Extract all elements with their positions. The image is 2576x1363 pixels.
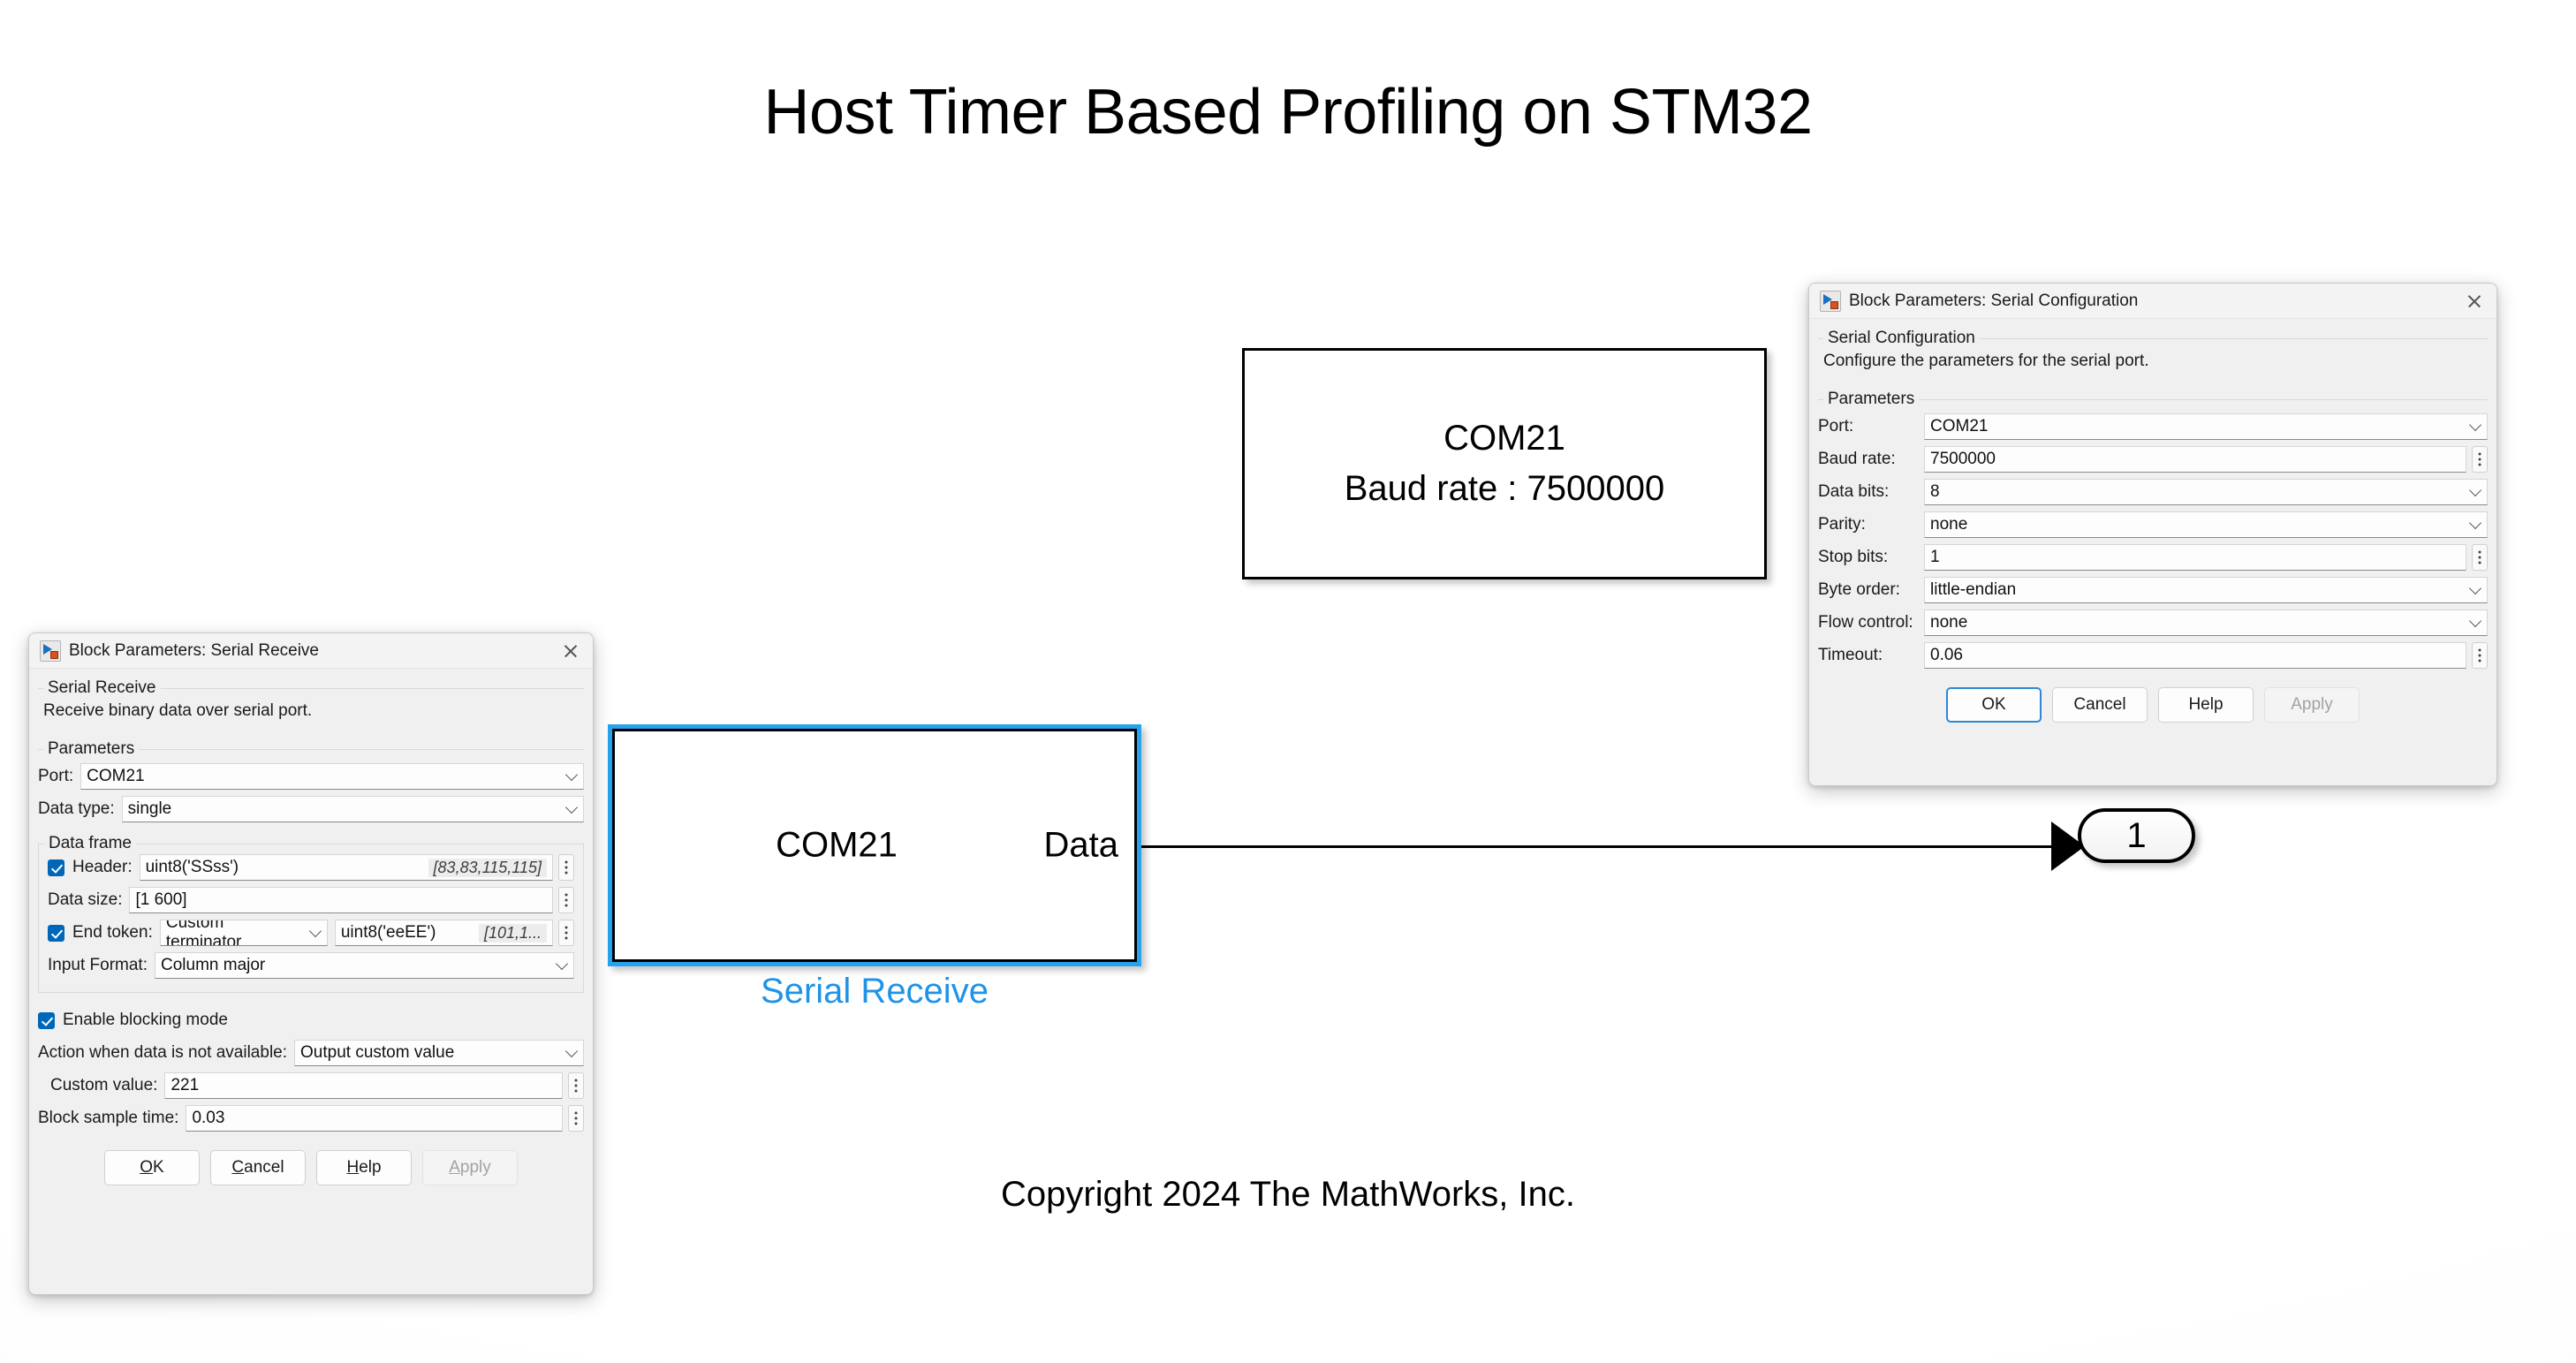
chevron-down-icon xyxy=(2469,419,2481,431)
timeout-value: 0.06 xyxy=(1930,646,1963,665)
data-type-select[interactable]: single xyxy=(122,796,584,822)
action-not-available-value: Output custom value xyxy=(300,1043,454,1063)
custom-value-label: Custom value: xyxy=(50,1076,164,1095)
port-value: COM21 xyxy=(1930,417,1988,436)
custom-value-input[interactable]: 221 xyxy=(164,1072,563,1099)
block-sample-time-input[interactable]: 0.03 xyxy=(186,1105,563,1132)
parity-row: Parity:none xyxy=(1818,510,2488,540)
baud-rate-value: 7500000 xyxy=(1930,450,1996,469)
flow-control-label: Flow control: xyxy=(1818,613,1924,632)
block-description-group: Serial Receive Receive binary data over … xyxy=(38,688,584,730)
header-label: Header: xyxy=(72,858,140,877)
help-button[interactable]: Help xyxy=(316,1150,412,1185)
data-size-label: Data size: xyxy=(48,890,129,910)
timeout-input[interactable]: 0.06 xyxy=(1924,642,2466,669)
help-button-mnemonic: H xyxy=(346,1158,359,1177)
dialog-title: Block Parameters: Serial Configuration xyxy=(1849,292,2458,311)
header-checkbox[interactable] xyxy=(48,859,64,876)
block-description-text: Configure the parameters for the serial … xyxy=(1818,345,2488,380)
serial-configuration-block-label: COM21 Baud rate : 7500000 xyxy=(1245,413,1764,514)
stop-bits-value: 1 xyxy=(1930,548,1940,567)
byte-order-value: little-endian xyxy=(1930,580,2016,600)
parameters-group-title: Parameters xyxy=(1823,390,1919,409)
block-sample-time-value: 0.03 xyxy=(192,1109,224,1128)
input-format-select[interactable]: Column major xyxy=(155,952,574,979)
end-token-more-options-button[interactable] xyxy=(558,920,574,946)
action-not-available-row: Action when data is not available: Outpu… xyxy=(38,1038,584,1068)
chevron-down-icon xyxy=(565,801,578,814)
chevron-down-icon xyxy=(565,1045,578,1057)
parameters-group-title: Parameters xyxy=(43,739,139,759)
data-frame-group: Data frame Header: uint8('SSss') [83,83,… xyxy=(38,844,584,993)
ok-button[interactable]: OK xyxy=(1946,687,2042,723)
simulink-block-icon xyxy=(40,640,61,662)
serial-configuration-block[interactable]: COM21 Baud rate : 7500000 xyxy=(1242,348,1767,579)
stop-bits-input[interactable]: 1 xyxy=(1924,544,2466,571)
enable-blocking-label: Enable blocking mode xyxy=(63,1011,235,1030)
data-bits-value: 8 xyxy=(1930,482,1940,502)
dialog-button-bar: OK Cancel Help Apply xyxy=(1818,673,2488,735)
parameters-group: Parameters Port:COM21Baud rate:7500000Da… xyxy=(1818,399,2488,670)
data-type-value: single xyxy=(128,799,172,819)
port-select[interactable]: COM21 xyxy=(80,763,584,790)
parameters-field-list: Port:COM21Baud rate:7500000Data bits:8Pa… xyxy=(1818,412,2488,670)
serial-receive-block-body[interactable]: COM21 Data xyxy=(612,729,1137,962)
data-size-row: Data size: [1 600] xyxy=(48,885,574,915)
data-frame-group-title: Data frame xyxy=(44,834,136,853)
stop-bits-row: Stop bits:1 xyxy=(1818,542,2488,572)
close-icon[interactable] xyxy=(554,638,587,664)
serial-receive-dialog[interactable]: Block Parameters: Serial Receive Serial … xyxy=(28,632,594,1295)
header-input[interactable]: uint8('SSss') [83,83,115,115] xyxy=(140,854,553,881)
block-sample-time-row: Block sample time: 0.03 xyxy=(38,1103,584,1133)
parameters-group: Parameters Port: COM21 Data type: single… xyxy=(38,749,584,1133)
serial-receive-output-port-label: Data xyxy=(1044,826,1119,866)
chevron-down-icon xyxy=(2469,517,2481,529)
cancel-button-mnemonic: C xyxy=(231,1158,244,1177)
cancel-button[interactable]: Cancel xyxy=(210,1150,306,1185)
data-type-row: Data type: single xyxy=(38,794,584,824)
port-label: Port: xyxy=(1818,417,1924,436)
custom-value-more-options-button[interactable] xyxy=(568,1072,584,1099)
apply-button-label: pply xyxy=(460,1158,491,1177)
flow-control-select[interactable]: none xyxy=(1924,610,2488,636)
block-sample-time-more-options-button[interactable] xyxy=(568,1105,584,1132)
dialog-title: Block Parameters: Serial Receive xyxy=(69,641,554,661)
chevron-down-icon xyxy=(565,769,578,781)
serial-configuration-dialog[interactable]: Block Parameters: Serial Configuration S… xyxy=(1808,283,2497,786)
timeout-more-options-button[interactable] xyxy=(2472,642,2488,669)
port-row: Port: COM21 xyxy=(38,761,584,791)
signal-line[interactable] xyxy=(1141,845,2056,848)
baud-rate-label: Baud rate: xyxy=(1818,450,1924,469)
ok-button-mnemonic: O xyxy=(140,1158,153,1177)
flow-control-row: Flow control:none xyxy=(1818,608,2488,638)
input-format-label: Input Format: xyxy=(48,956,155,975)
outport-block[interactable]: 1 xyxy=(2078,808,2195,863)
custom-value-row: Custom value: 221 xyxy=(38,1071,584,1101)
simulink-block-icon xyxy=(1820,291,1841,312)
chevron-down-icon xyxy=(556,958,568,970)
dialog-titlebar: Block Parameters: Serial Configuration xyxy=(1809,284,2496,319)
data-size-more-options-button[interactable] xyxy=(558,887,574,913)
data-size-value: [1 600] xyxy=(135,890,186,910)
end-token-mode-value: Custom terminator xyxy=(166,920,304,946)
end-token-label: End token: xyxy=(72,923,160,943)
help-button[interactable]: Help xyxy=(2158,687,2254,723)
action-not-available-select[interactable]: Output custom value xyxy=(294,1040,584,1066)
end-token-checkbox[interactable] xyxy=(48,925,64,942)
baud-rate-row: Baud rate:7500000 xyxy=(1818,444,2488,474)
apply-button: Apply xyxy=(2264,687,2360,723)
block-sample-time-label: Block sample time: xyxy=(38,1109,186,1128)
data-bits-label: Data bits: xyxy=(1818,482,1924,502)
parity-select[interactable]: none xyxy=(1924,511,2488,538)
page-title: Host Timer Based Profiling on STM32 xyxy=(0,78,2576,148)
port-row: Port:COM21 xyxy=(1818,412,2488,442)
serial-receive-block[interactable]: COM21 Data xyxy=(608,724,1141,966)
enable-blocking-checkbox[interactable] xyxy=(38,1012,55,1029)
end-token-mode-select[interactable]: Custom terminator xyxy=(160,920,328,946)
port-value: COM21 xyxy=(87,767,144,786)
timeout-label: Timeout: xyxy=(1818,646,1924,665)
chevron-down-icon xyxy=(2469,582,2481,594)
chevron-down-icon xyxy=(2469,615,2481,627)
header-row: Header: uint8('SSss') [83,83,115,115] xyxy=(48,852,574,882)
baud-rate-input[interactable]: 7500000 xyxy=(1924,446,2466,473)
input-format-value: Column major xyxy=(161,956,265,975)
data-size-input[interactable]: [1 600] xyxy=(129,887,553,913)
dialog-button-bar: OK Cancel Help Apply xyxy=(38,1136,584,1198)
parity-label: Parity: xyxy=(1818,515,1924,534)
data-bits-select[interactable]: 8 xyxy=(1924,479,2488,505)
byte-order-row: Byte order:little-endian xyxy=(1818,575,2488,605)
port-label: Port: xyxy=(38,767,80,786)
block-description-group: Serial Configuration Configure the param… xyxy=(1818,338,2488,380)
cancel-button[interactable]: Cancel xyxy=(2052,687,2148,723)
header-more-options-button[interactable] xyxy=(558,854,574,881)
input-format-row: Input Format: Column major xyxy=(48,950,574,981)
apply-button-mnemonic: A xyxy=(449,1158,460,1177)
port-select[interactable]: COM21 xyxy=(1924,413,2488,440)
ok-button[interactable]: OK xyxy=(104,1150,200,1185)
baud-rate-more-options-button[interactable] xyxy=(2472,446,2488,473)
stop-bits-more-options-button[interactable] xyxy=(2472,544,2488,571)
chevron-down-icon xyxy=(2469,484,2481,496)
data-type-label: Data type: xyxy=(38,799,122,819)
action-not-available-label: Action when data is not available: xyxy=(38,1043,294,1063)
stop-bits-label: Stop bits: xyxy=(1818,548,1924,567)
byte-order-label: Byte order: xyxy=(1818,580,1924,600)
header-hint: [83,83,115,115] xyxy=(428,859,547,877)
flow-control-value: none xyxy=(1930,613,1967,632)
end-token-hint: [101,1... xyxy=(479,924,547,943)
timeout-row: Timeout:0.06 xyxy=(1818,640,2488,670)
dialog-titlebar: Block Parameters: Serial Receive xyxy=(29,633,593,669)
serial-configuration-block-baud: Baud rate : 7500000 xyxy=(1245,464,1764,514)
enable-blocking-row: Enable blocking mode xyxy=(38,1005,584,1035)
cancel-button-label: ancel xyxy=(244,1158,284,1177)
chevron-down-icon xyxy=(309,925,322,937)
block-description-group-title: Serial Receive xyxy=(43,678,161,698)
ok-button-label: K xyxy=(153,1158,164,1177)
end-token-input[interactable]: uint8('eeEE') [101,1... xyxy=(335,920,553,946)
block-description-text: Receive binary data over serial port. xyxy=(38,694,584,730)
block-description-group-title: Serial Configuration xyxy=(1823,329,1980,348)
serial-configuration-block-port: COM21 xyxy=(1245,413,1764,464)
outport-block-label: 1 xyxy=(2081,812,2192,859)
serial-receive-block-caption: Serial Receive xyxy=(608,972,1141,1011)
end-token-row: End token: Custom terminator uint8('eeEE… xyxy=(48,918,574,948)
end-token-value: uint8('eeEE') xyxy=(341,923,436,943)
custom-value-value: 221 xyxy=(170,1076,199,1095)
apply-button: Apply xyxy=(422,1150,518,1185)
header-value: uint8('SSss') xyxy=(146,858,239,877)
parity-value: none xyxy=(1930,515,1967,534)
dialog-body: Serial Receive Receive binary data over … xyxy=(29,688,593,1198)
help-button-label: elp xyxy=(359,1158,381,1177)
close-icon[interactable] xyxy=(2458,288,2491,314)
byte-order-select[interactable]: little-endian xyxy=(1924,577,2488,603)
dialog-body: Serial Configuration Configure the param… xyxy=(1809,338,2496,735)
data-bits-row: Data bits:8 xyxy=(1818,477,2488,507)
